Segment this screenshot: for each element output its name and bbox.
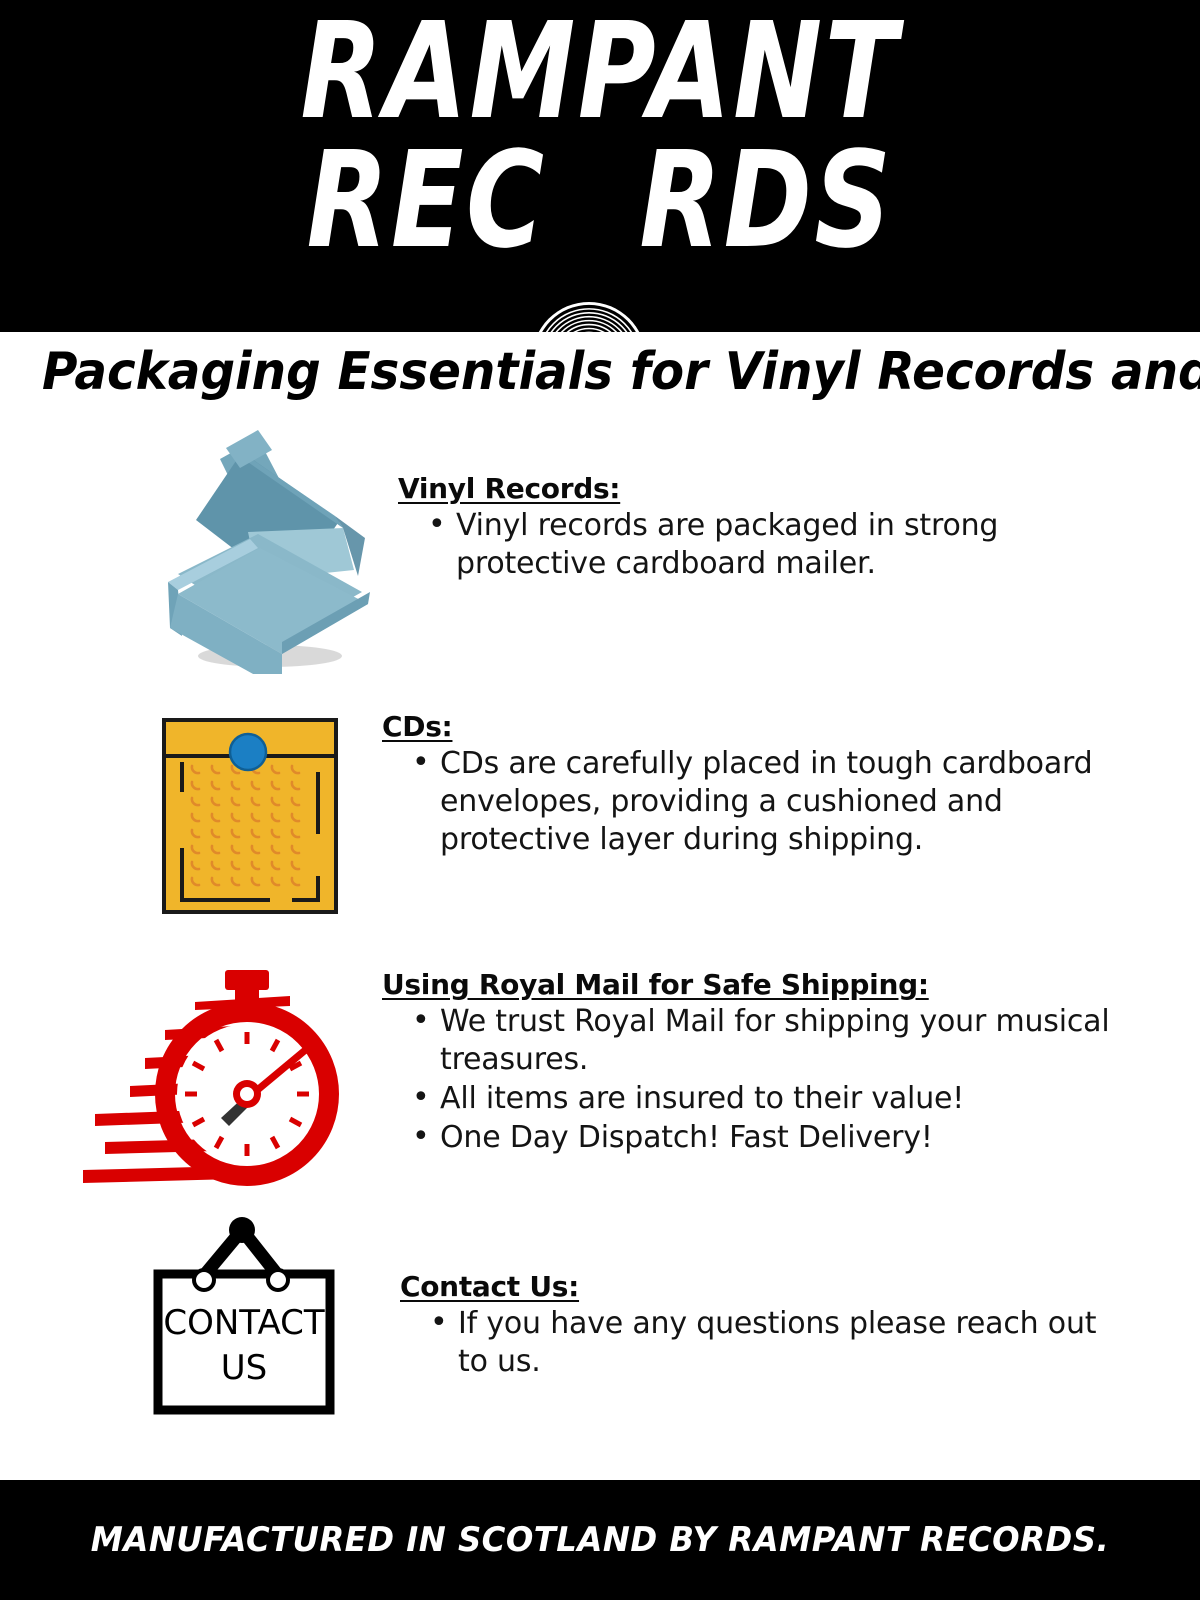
section-cds: CDs: CDs are carefully placed in tough c… (0, 700, 1200, 920)
cardboard-mailer-box-icon (130, 424, 380, 674)
contact-sign-line-1: CONTACT (163, 1303, 324, 1343)
vinyl-record-icon (530, 300, 648, 332)
section-vinyl-records: Vinyl Records: Vinyl records are package… (0, 424, 1200, 674)
envelope-seal-sticker (230, 734, 266, 770)
hanging-contact-sign-icon: CONTACT US (150, 1216, 350, 1416)
contact-sign-line-2: US (221, 1348, 267, 1388)
logo-line-1: RAMPANT (120, 6, 1080, 139)
footer-bar: MANUFACTURED IN SCOTLAND BY RAMPANT RECO… (0, 1480, 1200, 1600)
vinyl-bullet-list: Vinyl records are packaged in strong pro… (398, 507, 1118, 583)
footer-text: MANUFACTURED IN SCOTLAND BY RAMPANT RECO… (30, 1480, 1170, 1600)
cds-text-block: CDs: CDs are carefully placed in tough c… (382, 710, 1112, 860)
vinyl-text-block: Vinyl Records: Vinyl records are package… (398, 472, 1118, 584)
list-item: CDs are carefully placed in tough cardbo… (412, 745, 1112, 859)
logo-line-2: RECORDS (120, 135, 1080, 268)
logo-line-2-wrapper: RECORDS (0, 135, 1200, 310)
list-item: If you have any questions please reach o… (430, 1305, 1130, 1381)
logo-line-2-post: RDS (639, 124, 893, 278)
contact-bullet-list: If you have any questions please reach o… (400, 1305, 1130, 1381)
cds-bullet-list: CDs are carefully placed in tough cardbo… (382, 745, 1112, 859)
section-royal-mail: Using Royal Mail for Safe Shipping: We t… (0, 952, 1200, 1202)
list-item: Vinyl records are packaged in strong pro… (428, 507, 1118, 583)
padded-bubble-envelope-icon (160, 716, 340, 916)
list-item: We trust Royal Mail for shipping your mu… (412, 1003, 1112, 1079)
royal-mail-text-block: Using Royal Mail for Safe Shipping: We t… (382, 968, 1112, 1158)
list-item: One Day Dispatch! Fast Delivery! (412, 1119, 1112, 1157)
royal-mail-heading: Using Royal Mail for Safe Shipping: (382, 968, 1112, 1001)
fast-stopwatch-icon (75, 952, 365, 1202)
header-bar: RAMPANT RECORDS (0, 0, 1200, 332)
contact-text-block: Contact Us: If you have any questions pl… (400, 1270, 1130, 1382)
contact-heading: Contact Us: (400, 1270, 1130, 1303)
vinyl-heading: Vinyl Records: (398, 472, 1118, 505)
logo-line-2-pre: REC (307, 124, 547, 278)
list-item: All items are insured to their value! (412, 1080, 1112, 1118)
page-subtitle: Packaging Essentials for Vinyl Records a… (42, 336, 1158, 408)
royal-mail-bullet-list: We trust Royal Mail for shipping your mu… (382, 1003, 1112, 1157)
cds-heading: CDs: (382, 710, 1112, 743)
section-contact-us: CONTACT US Contact Us: If you have any q… (0, 1216, 1200, 1426)
